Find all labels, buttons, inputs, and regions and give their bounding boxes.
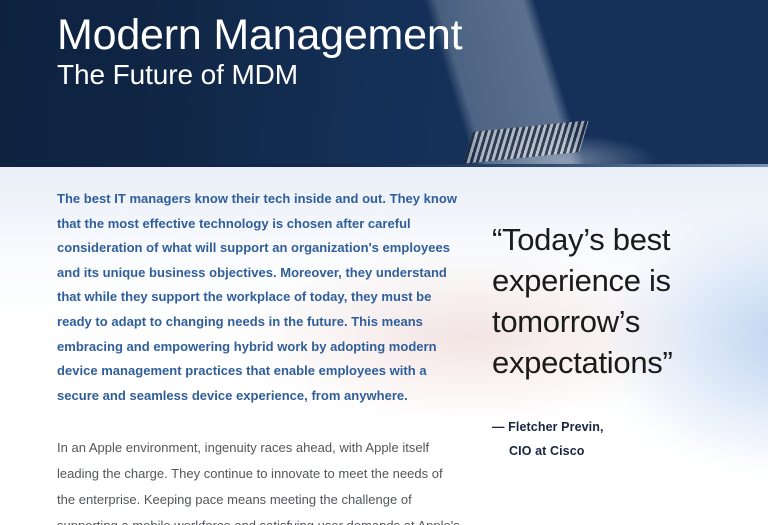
article-column: The best IT managers know their tech ins…	[57, 187, 461, 525]
document-page: Modern Management The Future of MDM The …	[0, 0, 768, 525]
page-subtitle: The Future of MDM	[57, 59, 462, 90]
hero-text-block: Modern Management The Future of MDM	[57, 12, 462, 91]
content-area: The best IT managers know their tech ins…	[0, 167, 768, 525]
pull-quote-column: “Today’s best experience is tomorrow’s e…	[492, 219, 742, 463]
lead-paragraph: The best IT managers know their tech ins…	[57, 187, 461, 408]
quote-attribution-name: — Fletcher Previn,	[492, 420, 604, 434]
hero-banner: Modern Management The Future of MDM	[0, 0, 768, 167]
body-paragraph: In an Apple environment, ingenuity races…	[57, 435, 461, 525]
pull-quote-text: “Today’s best experience is tomorrow’s e…	[492, 219, 742, 383]
quote-attribution-role: CIO at Cisco	[492, 439, 742, 463]
page-title: Modern Management	[57, 12, 462, 58]
quote-attribution: — Fletcher Previn, CIO at Cisco	[492, 415, 742, 463]
